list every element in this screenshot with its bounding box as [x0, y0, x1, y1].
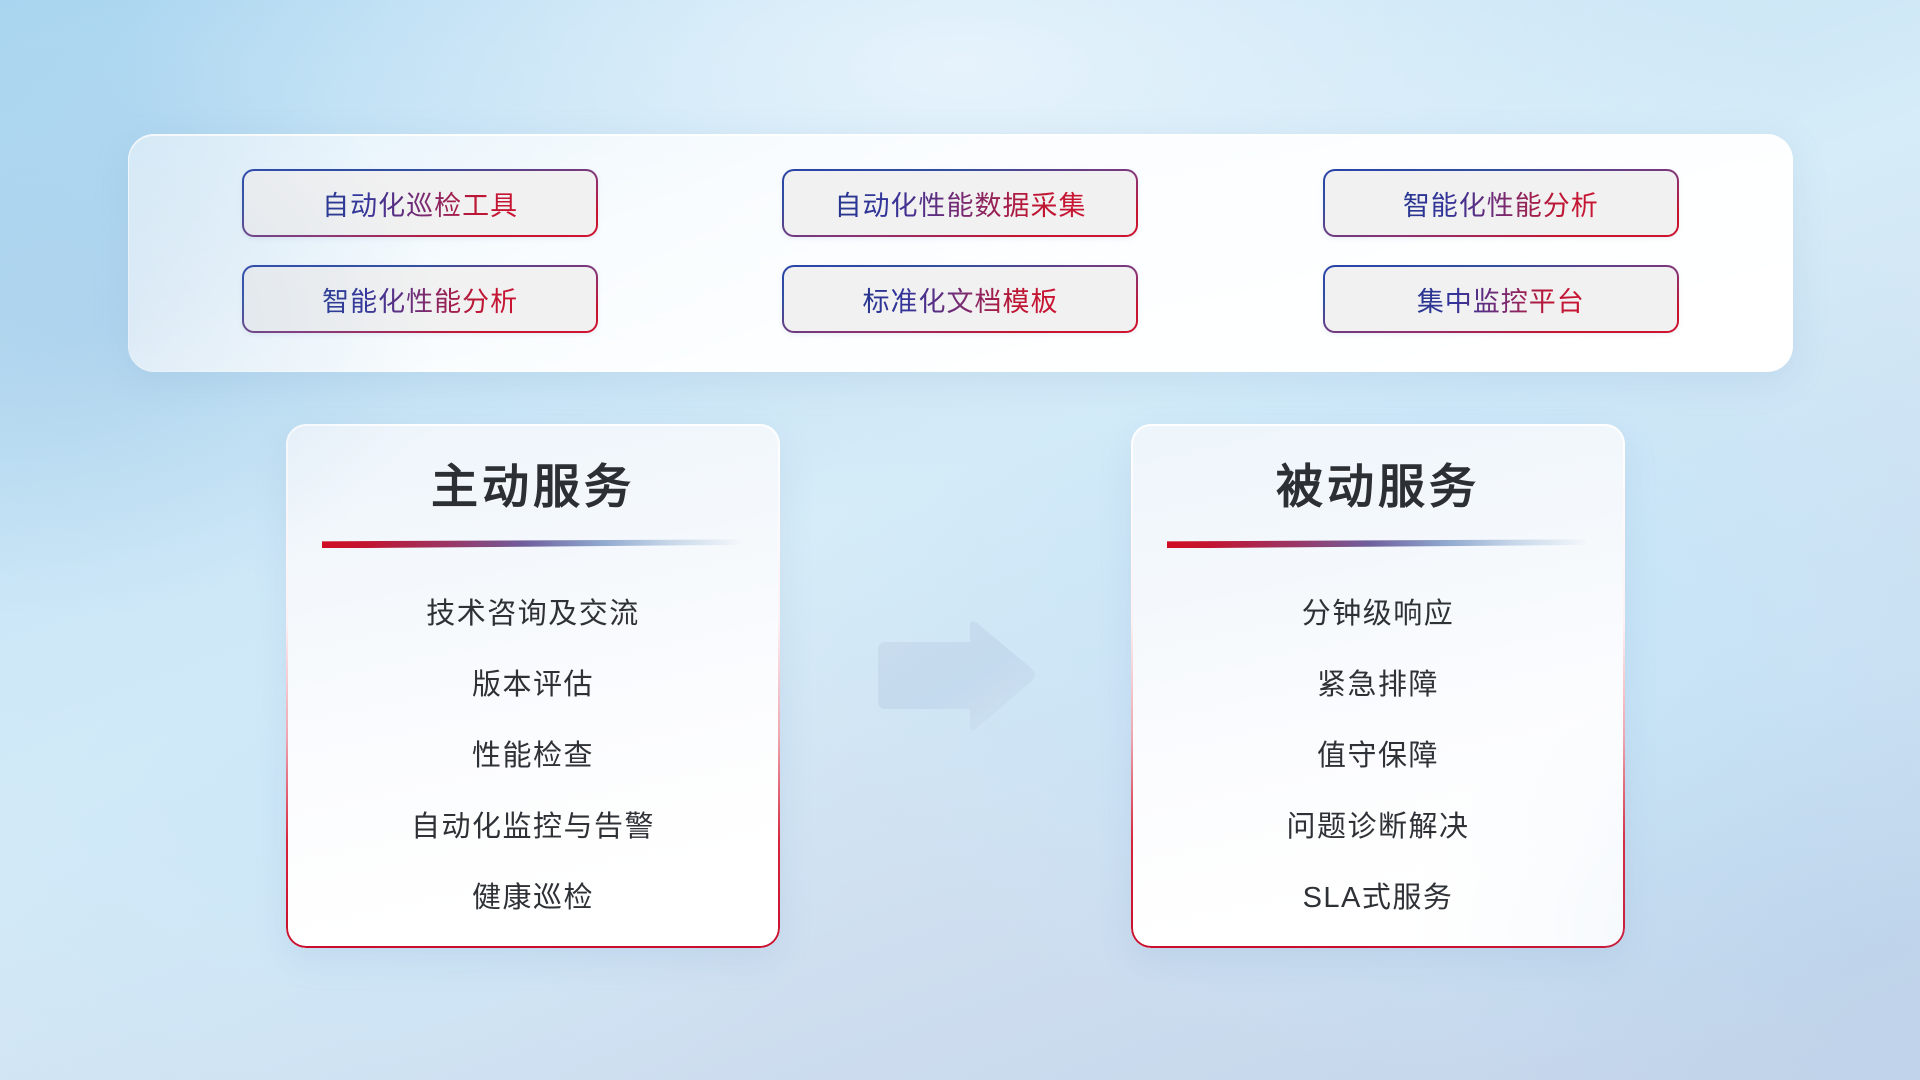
capability-tag-label: 标准化文档模板 [862, 280, 1058, 319]
list-item: 自动化监控与告警 [314, 792, 752, 863]
capability-tag-5[interactable]: 集中监控平台 [1323, 265, 1679, 333]
capability-tag-label: 智能化性能分析 [322, 280, 518, 319]
capability-tag-2[interactable]: 智能化性能分析 [1323, 169, 1679, 237]
list-item: 问题诊断解决 [1159, 792, 1597, 863]
card-title: 被动服务 [1159, 462, 1597, 511]
capability-tag-1[interactable]: 自动化性能数据采集 [782, 169, 1138, 237]
service-card-reactive: 被动服务 分钟级响应 紧急排障 值守保障 问题诊断解决 SLA式服务 [1131, 424, 1625, 948]
list-item: 健康巡检 [314, 863, 752, 934]
card-divider-bar [1167, 539, 1589, 548]
service-item-list: 分钟级响应 紧急排障 值守保障 问题诊断解决 SLA式服务 [1159, 549, 1597, 934]
card-title: 主动服务 [314, 462, 752, 511]
capability-tag-panel: 自动化巡检工具 自动化性能数据采集 智能化性能分析 智能化性能分析 标准化文档模… [128, 134, 1793, 372]
list-item: 版本评估 [314, 650, 752, 721]
list-item: 分钟级响应 [1159, 579, 1597, 650]
service-card-proactive: 主动服务 技术咨询及交流 版本评估 性能检查 自动化监控与告警 健康巡检 [286, 424, 780, 948]
slide-canvas: 自动化巡检工具 自动化性能数据采集 智能化性能分析 智能化性能分析 标准化文档模… [0, 0, 1920, 1080]
capability-tag-3[interactable]: 智能化性能分析 [242, 265, 598, 333]
capability-tag-label: 智能化性能分析 [1403, 184, 1599, 223]
capability-tag-label: 自动化性能数据采集 [834, 184, 1086, 223]
list-item: SLA式服务 [1159, 863, 1597, 934]
service-item-list: 技术咨询及交流 版本评估 性能检查 自动化监控与告警 健康巡检 [314, 549, 752, 934]
card-divider [322, 537, 744, 549]
list-item: 技术咨询及交流 [314, 579, 752, 650]
list-item: 紧急排障 [1159, 650, 1597, 721]
card-divider-bar [322, 539, 744, 548]
card-divider [1167, 537, 1589, 549]
capability-tag-0[interactable]: 自动化巡检工具 [242, 169, 598, 237]
capability-tag-label: 集中监控平台 [1417, 280, 1585, 319]
arrow-right-icon [872, 617, 1038, 735]
list-item: 性能检查 [314, 721, 752, 792]
capability-tag-4[interactable]: 标准化文档模板 [782, 265, 1138, 333]
list-item: 值守保障 [1159, 721, 1597, 792]
capability-tag-label: 自动化巡检工具 [322, 184, 518, 223]
